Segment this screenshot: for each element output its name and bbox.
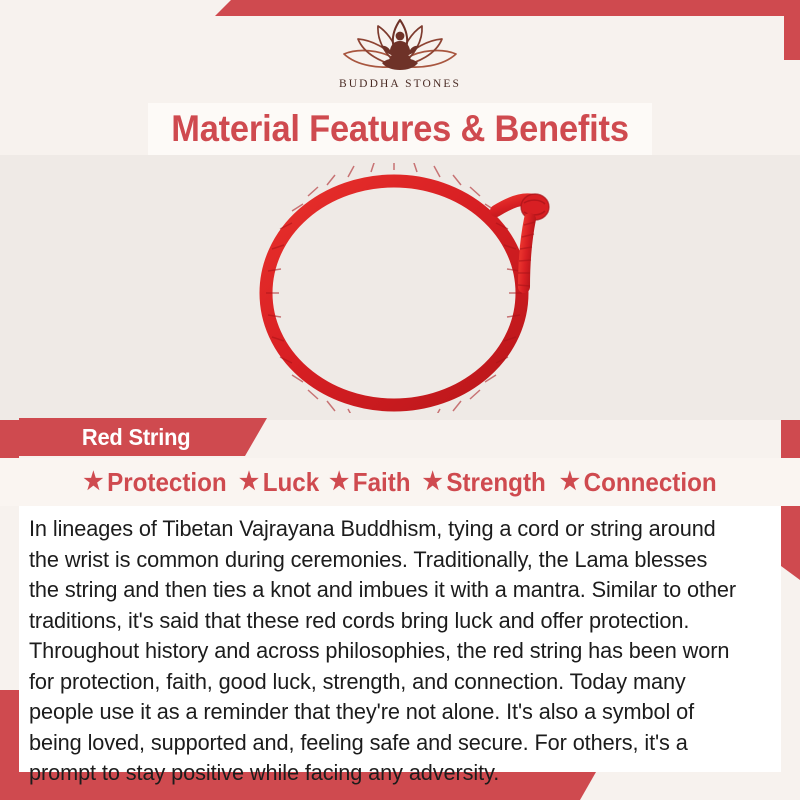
infographic-page: BUDDHA STONES Material Features & Benefi… (0, 0, 800, 800)
feature-item-protection: ★Protection (83, 467, 226, 498)
material-banner: Red String (19, 418, 267, 456)
features-list: ★Protection ★Luck ★Faith ★Strength ★Conn… (0, 458, 800, 506)
brand-name: BUDDHA STONES (300, 78, 500, 90)
star-icon: ★ (560, 470, 580, 494)
star-icon: ★ (422, 470, 442, 494)
description-panel: In lineages of Tibetan Vajrayana Buddhis… (19, 506, 781, 772)
title-banner: Material Features & Benefits (148, 103, 652, 155)
star-icon: ★ (83, 470, 103, 494)
description-text: In lineages of Tibetan Vajrayana Buddhis… (29, 514, 737, 789)
feature-item-strength: ★Strength (422, 467, 545, 498)
lotus-meditation-icon (336, 14, 464, 76)
feature-item-connection: ★Connection (560, 467, 717, 498)
feature-label: Protection (107, 467, 227, 498)
material-name: Red String (82, 424, 191, 451)
feature-label: Luck (262, 467, 318, 498)
page-title: Material Features & Benefits (171, 108, 629, 150)
feature-label: Connection (584, 467, 717, 498)
feature-label: Faith (353, 467, 411, 498)
product-image-area (0, 155, 800, 420)
material-banner-row: Red String (0, 418, 800, 456)
brand-logo: BUDDHA STONES (300, 14, 500, 90)
star-icon: ★ (329, 470, 349, 494)
red-braided-string-bracelet-icon (228, 163, 574, 413)
star-icon: ★ (239, 470, 259, 494)
brand-header: BUDDHA STONES (0, 0, 800, 100)
feature-label: Strength (446, 467, 545, 498)
feature-item-faith: ★Faith (329, 467, 410, 498)
feature-item-luck: ★Luck (239, 467, 319, 498)
